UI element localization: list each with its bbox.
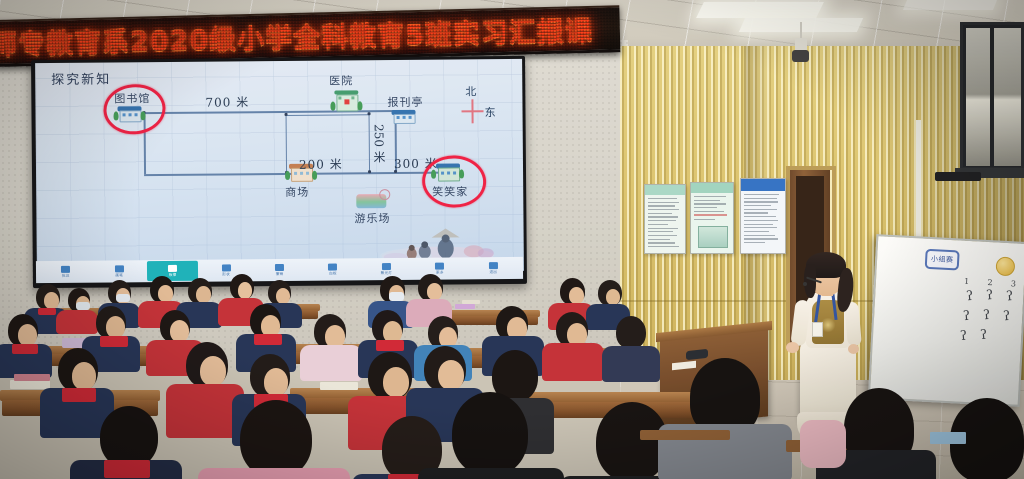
book (320, 382, 358, 390)
easel-whiteboard[interactable]: 小组赛 1 2 3 ʔ ʔ ʔ ʔ ʔ ʔ ʔ ʔ (868, 234, 1024, 407)
newsstand-icon (391, 110, 417, 123)
student-face (170, 320, 189, 342)
adult-body (418, 468, 564, 479)
book (462, 300, 480, 304)
teacher-id-badge (812, 322, 823, 337)
whiteboard-tally: ʔ (963, 309, 971, 325)
map-label-hospital: 医院 (329, 72, 353, 88)
window (960, 22, 1024, 170)
playground-ride-icon (379, 189, 390, 200)
tree-icon (330, 102, 335, 111)
poster-header (645, 185, 685, 195)
compass-east-label: 东 (484, 104, 496, 120)
whiteboard-column-2: 2 (987, 278, 993, 287)
student-face (196, 286, 211, 303)
paper-sheet (930, 432, 966, 444)
student-face (200, 356, 226, 386)
map-node (368, 170, 371, 173)
student-face (438, 360, 464, 390)
student-face (606, 289, 620, 305)
student-face (44, 292, 59, 309)
compass-north-label: 北 (465, 83, 477, 99)
spotlight-icon (382, 263, 391, 270)
whiteboard-column-1: 1 (964, 277, 970, 286)
distance-label-200m: 200 米 (299, 155, 343, 172)
whiteboard-tally: ʔ (1006, 289, 1014, 305)
led-banner-text: 师专教育系2020级小学全科教育5班实习汇报课 (0, 9, 593, 62)
whiteboard-badge: 小组赛 (925, 249, 960, 271)
classroom-photo: 师专教育系2020级小学全科教育5班实习汇报课 探究新知 (0, 0, 1024, 479)
more-icon (435, 262, 444, 269)
student-body (300, 345, 362, 381)
red-scarf (376, 340, 404, 351)
projection-screen[interactable]: 探究新知 图书馆 (35, 59, 524, 275)
face-mask-icon (116, 294, 130, 302)
slide-title: 探究新知 (51, 68, 111, 88)
window-pane (994, 28, 1021, 166)
student-head (240, 400, 312, 478)
teacher-left-hand (786, 342, 799, 353)
distance-label-700m: 700 米 (205, 93, 249, 110)
camera-body-icon (792, 50, 809, 62)
desk (640, 430, 730, 440)
window-handle[interactable] (935, 172, 981, 181)
distance-label-250m: 250 米 (371, 124, 388, 163)
map-node (368, 112, 371, 115)
student-face (158, 285, 173, 302)
map-label-mall: 商场 (285, 184, 309, 200)
student-face (276, 288, 290, 304)
hospital-icon (333, 90, 359, 110)
map-node (285, 113, 288, 116)
student-body (542, 343, 604, 381)
student-face (18, 324, 37, 346)
book (455, 304, 475, 309)
whiteboard-tally: ʔ (980, 328, 988, 344)
window-pane (966, 28, 990, 166)
poster-text-lines (741, 191, 785, 243)
magnet-icon (995, 256, 1015, 276)
observer-body (800, 420, 846, 468)
map-label-newsstand: 报刊亭 (387, 94, 423, 110)
student-face (427, 283, 442, 300)
red-scarf (104, 460, 150, 478)
wall-poster (690, 182, 734, 254)
red-scarf (100, 336, 128, 347)
student-body (602, 346, 660, 382)
wall-poster (644, 184, 686, 254)
whiteboard-tally: ʔ (960, 329, 968, 345)
red-scarf (62, 388, 96, 402)
whiteboard-icon (328, 263, 337, 270)
student-body (198, 468, 350, 479)
red-scarf (12, 344, 38, 354)
headset-microphone-tip (803, 282, 807, 286)
tree-icon (357, 101, 362, 110)
poster-diagram (698, 226, 728, 248)
wall-poster (740, 178, 786, 254)
whiteboard-tally: ʔ (986, 288, 994, 304)
face-mask-icon (389, 292, 404, 301)
poster-text-lines (645, 195, 685, 247)
student-face (238, 282, 252, 299)
book (10, 380, 50, 389)
student-face (569, 287, 584, 304)
whiteboard-column-3: 3 (1011, 279, 1017, 288)
poster-header (691, 183, 733, 193)
compass-needle-horizontal (462, 110, 484, 112)
whiteboard-tally: ʔ (966, 289, 974, 305)
ceiling-light (903, 0, 997, 10)
student-head (616, 316, 646, 349)
exit-icon (489, 262, 498, 269)
student-face (72, 362, 96, 390)
student-seating-area (0, 270, 700, 479)
student-face (106, 316, 125, 338)
student-head (100, 406, 158, 468)
teacher-right-hand (848, 344, 859, 354)
hospital-cross-icon (344, 99, 349, 104)
poster-header (741, 179, 785, 191)
student-body (56, 310, 98, 334)
face-mask-icon (76, 302, 90, 310)
book (14, 374, 50, 381)
whiteboard-column-headers: 1 2 3 (964, 277, 1016, 289)
student-face (383, 367, 409, 397)
poster-text-lines (691, 193, 733, 220)
ceiling-light (696, 2, 824, 18)
whiteboard-tally: ʔ (983, 308, 991, 324)
red-scarf (38, 308, 56, 315)
adult-head (452, 392, 528, 476)
tree-icon (285, 171, 290, 180)
red-scarf (254, 334, 282, 345)
whiteboard-tally: ʔ (1003, 309, 1011, 325)
student-face (264, 368, 288, 396)
